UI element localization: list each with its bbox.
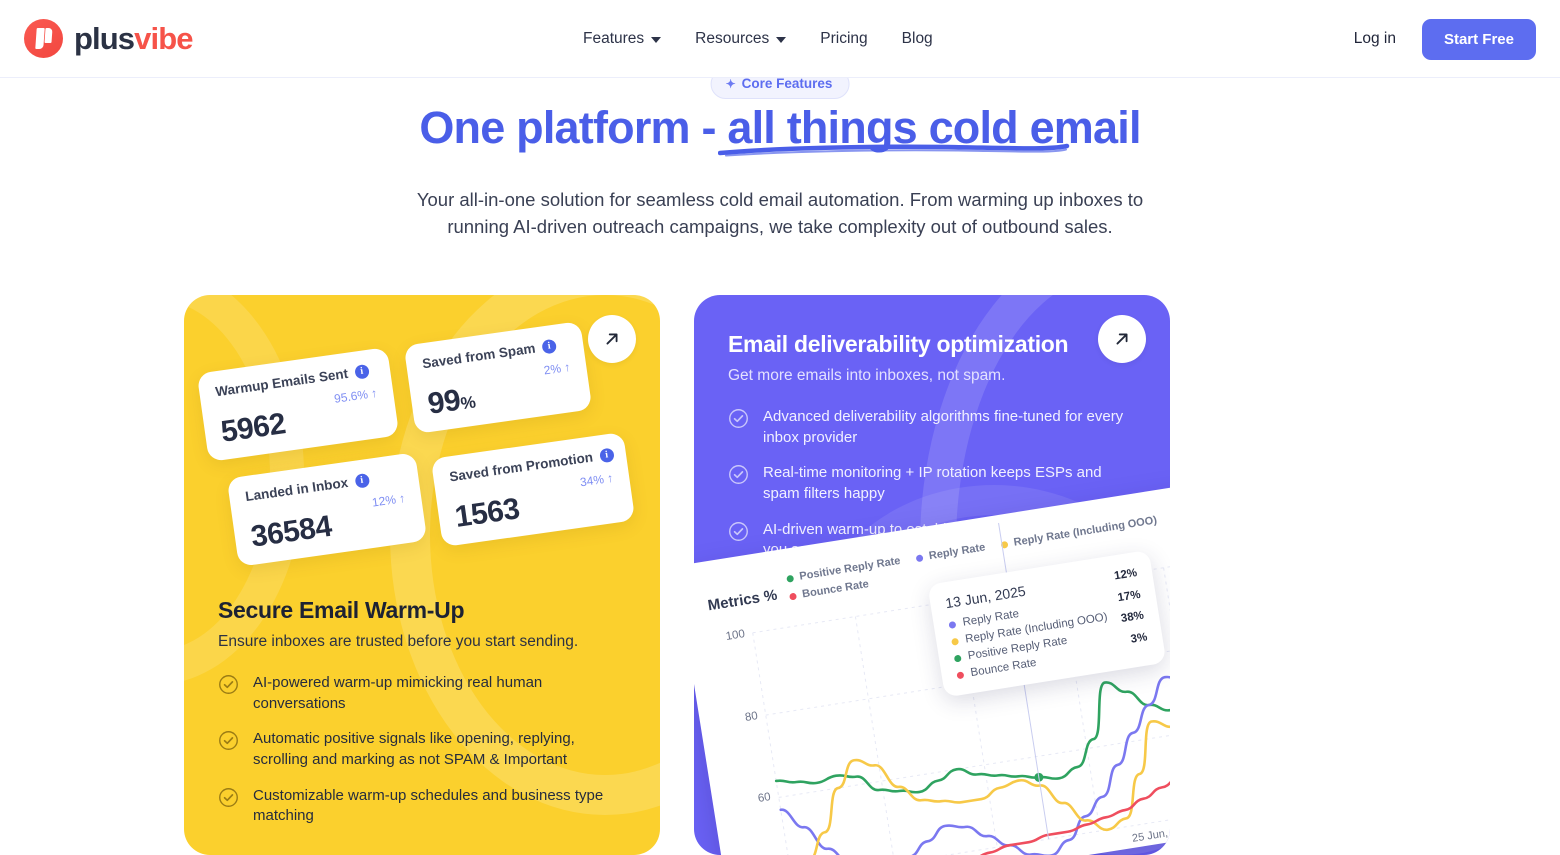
card-subheading: Get more emails into inboxes, not spam.	[728, 367, 1140, 385]
header-actions: Log in Start Free	[1354, 0, 1536, 78]
tooltip-value: 38%	[1120, 608, 1145, 628]
y-axis-tick: 80	[744, 710, 759, 724]
legend-label: Reply Rate (Including OOO)	[1013, 514, 1158, 549]
hero-subtitle: Your all-in-one solution for seamless co…	[390, 186, 1170, 241]
list-item: Customizable warm-up schedules and busin…	[218, 786, 630, 827]
nav-item-features[interactable]: Features	[583, 30, 661, 48]
tooltip-value: 17%	[1116, 586, 1141, 606]
page-title: One platform - all things cold email	[0, 102, 1560, 154]
chevron-down-icon	[651, 37, 661, 43]
list-item: Automatic positive signals like opening,…	[218, 729, 630, 770]
tooltip-value: 3%	[1130, 629, 1149, 648]
start-free-button[interactable]: Start Free	[1422, 19, 1536, 60]
tooltip-color-swatch	[951, 637, 959, 645]
arrow-up-right-icon	[1111, 328, 1133, 350]
tooltip-value: 12%	[1113, 565, 1138, 585]
legend-item[interactable]: Reply Rate	[915, 541, 986, 564]
stat-tile-warmup-emails-sent: Warmup Emails Sent i 95.6% ↑ 5962	[197, 347, 400, 462]
login-link[interactable]: Log in	[1354, 30, 1396, 48]
tooltip-color-swatch	[956, 671, 964, 679]
y-axis-tick: 60	[757, 791, 772, 805]
card-text-block: Secure Email Warm-Up Ensure inboxes are …	[218, 597, 630, 842]
nav-label-blog: Blog	[902, 30, 933, 48]
card-subheading: Ensure inboxes are trusted before you st…	[218, 633, 630, 651]
feature-text: AI-powered warm-up mimicking real human …	[253, 673, 630, 714]
x-axis-tick: 25 Jun, 2025	[1131, 823, 1170, 845]
info-icon[interactable]: i	[541, 338, 557, 354]
logo-text-vibe: vibe	[134, 21, 192, 56]
nav-item-pricing[interactable]: Pricing	[820, 30, 867, 48]
stat-value-suffix: %	[459, 393, 476, 414]
nav-item-blog[interactable]: Blog	[902, 30, 933, 48]
sparkle-icon: ✦	[726, 78, 736, 90]
tooltip-date: 13 Jun, 2025	[944, 583, 1026, 611]
check-circle-icon	[218, 787, 239, 808]
logo-text-plus: plus	[74, 21, 134, 56]
card-email-deliverability-optimization[interactable]: Email deliverability optimization Get mo…	[694, 295, 1170, 855]
legend-color-swatch	[789, 592, 797, 600]
legend-color-swatch	[786, 574, 794, 582]
chevron-down-icon	[776, 37, 786, 43]
legend-label: Bounce Rate	[801, 578, 869, 600]
card-arrow-button[interactable]	[1098, 315, 1146, 363]
list-item: AI-powered warm-up mimicking real human …	[218, 673, 630, 714]
card-heading: Email deliverability optimization	[728, 331, 1140, 358]
tooltip-color-swatch	[948, 620, 956, 628]
info-icon[interactable]: i	[599, 447, 615, 463]
card-secure-email-warm-up[interactable]: Warmup Emails Sent i 95.6% ↑ 5962 Saved …	[184, 295, 660, 855]
nav-label-features: Features	[583, 30, 644, 48]
stat-value-number: 99	[426, 384, 463, 421]
nav-label-resources: Resources	[695, 30, 769, 48]
feature-cards: Warmup Emails Sent i 95.6% ↑ 5962 Saved …	[184, 295, 1170, 855]
stat-tile-landed-in-inbox: Landed in Inbox i 12% ↑ 36584	[227, 452, 428, 567]
stat-tile-saved-from-spam: Saved from Spam i 2% ↑ 99%	[404, 321, 593, 434]
badge-label: Core Features	[742, 76, 833, 91]
card-arrow-button[interactable]	[588, 315, 636, 363]
stat-label: Landed in Inbox	[244, 475, 349, 504]
arrow-up-right-icon	[601, 328, 623, 350]
feature-text: Automatic positive signals like opening,…	[253, 729, 630, 770]
nav-item-resources[interactable]: Resources	[695, 30, 786, 48]
check-circle-icon	[728, 408, 749, 429]
check-circle-icon	[728, 521, 749, 542]
chart-title: Metrics %	[707, 587, 779, 615]
tooltip-color-swatch	[954, 654, 962, 662]
feature-text: Real-time monitoring + IP rotation keeps…	[763, 463, 1140, 504]
legend-item[interactable]: Positive Reply Rate	[786, 555, 902, 585]
stat-tile-saved-from-promotion: Saved from Promotion i 34% ↑ 1563	[431, 432, 635, 547]
list-item: Advanced deliverability algorithms fine-…	[728, 407, 1140, 448]
legend-color-swatch	[916, 554, 924, 562]
legend-label: Reply Rate	[928, 541, 986, 562]
site-header: plusvibe Features Resources Pricing Blog…	[0, 0, 1560, 78]
check-circle-icon	[218, 674, 239, 695]
check-circle-icon	[218, 730, 239, 751]
info-icon[interactable]: i	[354, 472, 370, 488]
nav-label-pricing: Pricing	[820, 30, 867, 48]
main-nav: Features Resources Pricing Blog	[583, 0, 933, 78]
y-axis-tick: 100	[725, 628, 746, 643]
legend-item[interactable]: Reply Rate (Including OOO)	[1000, 514, 1158, 551]
info-icon[interactable]: i	[354, 363, 370, 379]
feature-text: Advanced deliverability algorithms fine-…	[763, 407, 1140, 448]
legend-label: Positive Reply Rate	[799, 555, 902, 583]
feature-text: Customizable warm-up schedules and busin…	[253, 786, 630, 827]
card-heading: Secure Email Warm-Up	[218, 597, 630, 624]
plusvibe-logo-mark-icon	[24, 19, 63, 58]
list-item: Real-time monitoring + IP rotation keeps…	[728, 463, 1140, 504]
card-feature-list: AI-powered warm-up mimicking real human …	[218, 673, 630, 827]
logo[interactable]: plusvibe	[24, 19, 193, 58]
check-circle-icon	[728, 464, 749, 485]
logo-wordmark: plusvibe	[74, 23, 193, 54]
